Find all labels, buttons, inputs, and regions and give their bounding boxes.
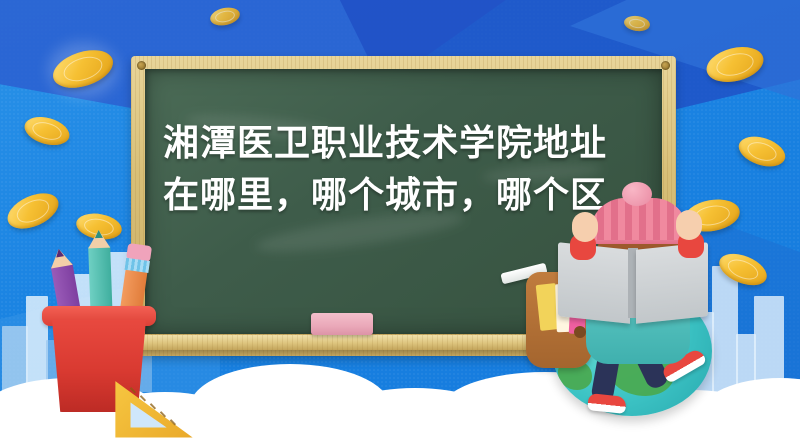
open-book-icon <box>558 246 708 320</box>
triangle-ruler-icon <box>112 376 196 440</box>
beanie-pompom <box>622 182 652 206</box>
chalkboard-eraser-icon <box>311 313 373 335</box>
frame-screw-top-right <box>661 61 670 70</box>
poster-canvas: 湘潭医卫职业技术学院地址 在哪里，哪个城市，哪个区 <box>0 0 800 444</box>
child-reading-illustration <box>530 146 760 416</box>
backpack-clip <box>574 326 586 338</box>
